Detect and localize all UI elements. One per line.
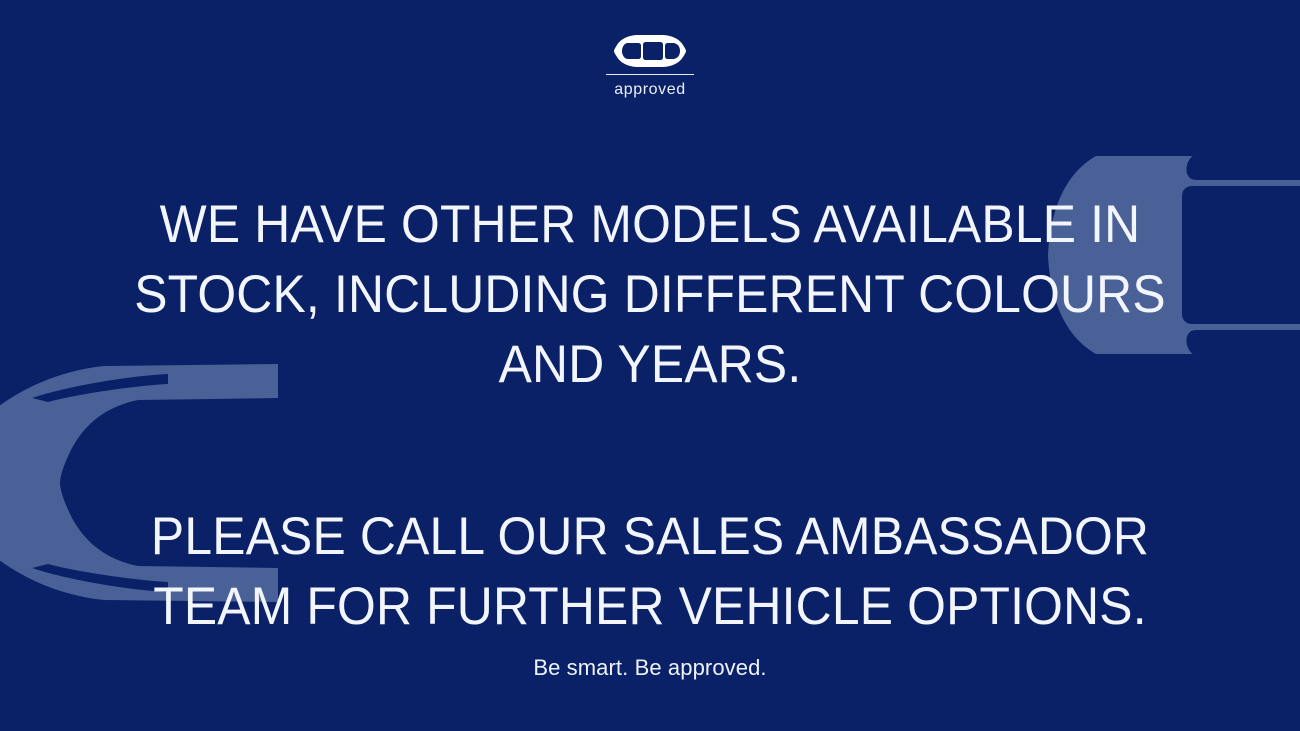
brand-word: approved — [614, 81, 686, 99]
headline-secondary: PLEASE CALL OUR SALES AMBASSADOR TEAM FO… — [114, 502, 1186, 642]
brand-divider — [606, 74, 694, 75]
slide-canvas: approved WE HAVE OTHER MODELS AVAILABLE … — [0, 0, 1300, 731]
brand-lockup: approved — [0, 33, 1300, 99]
car-top-view-icon — [614, 33, 686, 69]
headline-primary: WE HAVE OTHER MODELS AVAILABLE IN STOCK,… — [114, 190, 1186, 400]
tagline: Be smart. Be approved. — [0, 655, 1300, 681]
message-body: WE HAVE OTHER MODELS AVAILABLE IN STOCK,… — [80, 190, 1220, 642]
